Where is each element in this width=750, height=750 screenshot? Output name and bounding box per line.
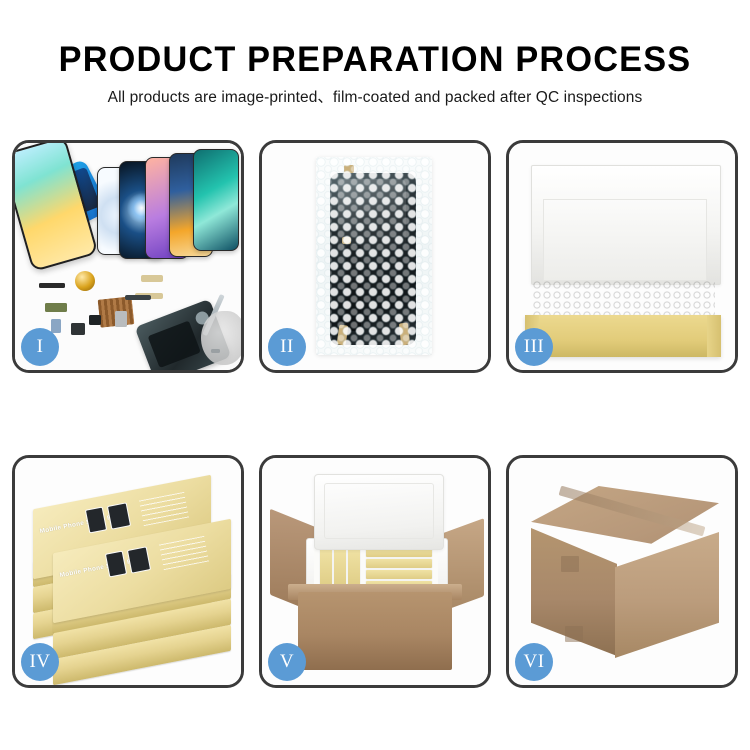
process-step-2: II: [259, 140, 491, 373]
carton-body: [298, 592, 452, 670]
header: PRODUCT PREPARATION PROCESS All products…: [0, 0, 750, 106]
hand: [201, 311, 241, 365]
packed-box-5: [366, 559, 432, 568]
box-thumbnail-rear-2: [107, 502, 131, 529]
step-badge-5: V: [268, 643, 306, 681]
chip-part-6: [115, 311, 127, 327]
product-preparation-infographic: PRODUCT PREPARATION PROCESS All products…: [0, 0, 750, 750]
process-step-1: I: [12, 140, 244, 373]
flex-cable-1: [141, 275, 163, 282]
process-step-6: VI: [506, 455, 738, 688]
carton-right-face: [615, 532, 719, 658]
foam-box-lid: [314, 474, 444, 550]
screw-part: [211, 349, 220, 353]
step-badge-2: II: [268, 328, 306, 366]
bubble-wrap-bag: [316, 157, 432, 355]
process-step-5: V: [259, 455, 491, 688]
carton-tape-upper: [561, 556, 579, 572]
kraft-box-base: [525, 315, 721, 357]
flex-cable-3: [125, 295, 151, 300]
process-step-3: III: [506, 140, 738, 373]
carton-tape-lower: [565, 626, 583, 642]
chip-part-3: [51, 319, 61, 333]
gold-coil-part: [75, 271, 95, 291]
step-badge-3: III: [515, 328, 553, 366]
chip-part-1: [39, 283, 65, 288]
step-badge-6: VI: [515, 643, 553, 681]
box-thumbnail-front-2: [127, 546, 151, 573]
process-step-4: Mobile Phone Spare Parts Mobile Phone Sp…: [12, 455, 244, 688]
chip-part-2: [45, 303, 67, 312]
chip-part-4: [71, 323, 85, 335]
page-title: PRODUCT PREPARATION PROCESS: [8, 0, 743, 77]
packed-box-6: [366, 570, 432, 579]
chip-part-5: [89, 315, 101, 325]
packed-box-1: [320, 548, 332, 588]
box-lid-inner-face: [543, 199, 707, 281]
bubble-texture-back: [316, 157, 432, 355]
packed-box-2: [334, 548, 346, 588]
phone-front-5: [193, 149, 239, 251]
step-badge-4: IV: [21, 643, 59, 681]
page-subtitle: All products are image-printed、film-coat…: [0, 77, 750, 106]
packed-box-3: [348, 548, 360, 588]
step-badge-1: I: [21, 328, 59, 366]
process-step-grid: I II: [12, 140, 738, 688]
